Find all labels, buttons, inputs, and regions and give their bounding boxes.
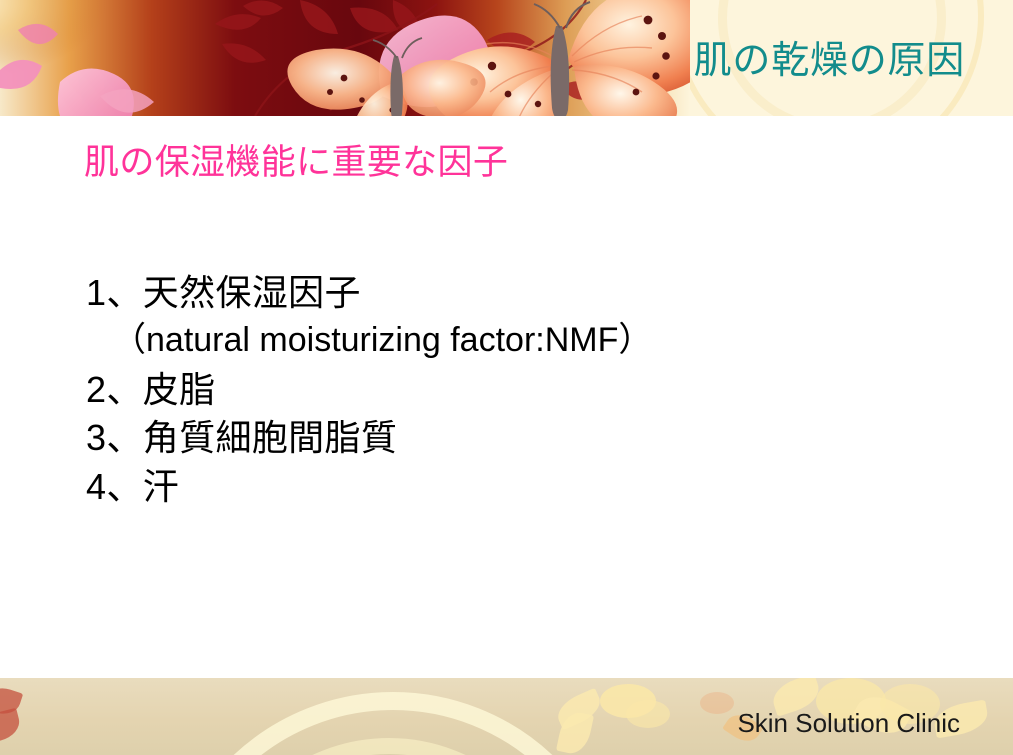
page-title: 肌の乾燥の原因: [694, 42, 965, 82]
footer-petal-decoration: [700, 692, 734, 714]
footer-petal-decoration: [600, 684, 656, 718]
footer-clinic-name: Skin Solution Clinic: [737, 708, 960, 739]
list-item: 3、角質細胞間脂質: [86, 417, 926, 459]
footer-arc-decoration: [160, 692, 626, 755]
footer-leaf-decoration: [0, 683, 23, 718]
footer-arc-decoration-inner: [208, 738, 570, 755]
body-list: 1、天然保湿因子 （natural moisturizing factor:NM…: [86, 272, 926, 514]
list-item-subtext: （natural moisturizing factor:NMF）: [86, 320, 926, 360]
list-item: 4、汗: [86, 466, 926, 508]
footer-leaf-decoration: [556, 709, 594, 755]
footer-leaf-decoration: [0, 708, 23, 744]
list-item: 2、皮脂: [86, 369, 926, 411]
slide: 肌の乾燥の原因 肌の保湿機能に重要な因子 1、天然保湿因子 （natural m…: [0, 0, 1013, 755]
slide-subtitle: 肌の保湿機能に重要な因子: [84, 144, 508, 183]
footer-petal-decoration: [626, 700, 670, 728]
footer-leaf-decoration: [553, 688, 606, 730]
butterfly-floral-banner-image: [0, 0, 690, 116]
list-item: 1、天然保湿因子: [86, 272, 926, 314]
footer-band: Skin Solution Clinic: [0, 678, 1013, 755]
